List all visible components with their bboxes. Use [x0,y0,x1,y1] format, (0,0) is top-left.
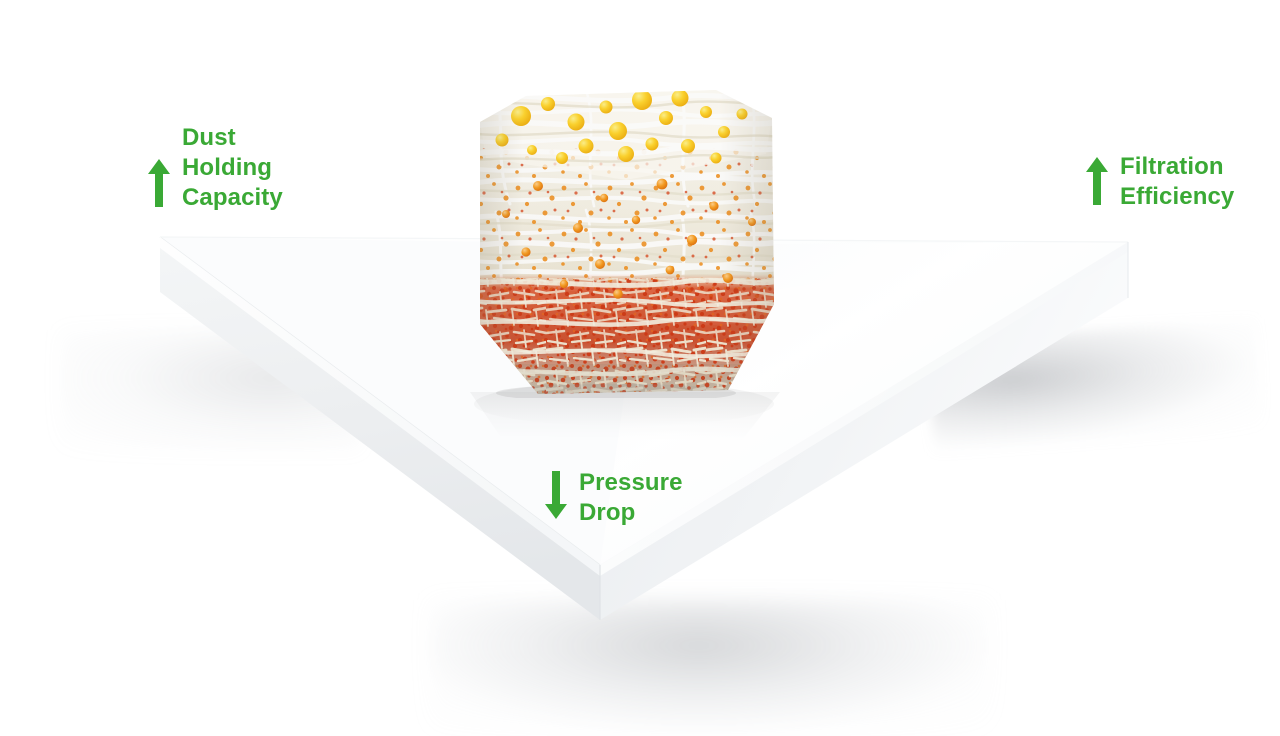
platform-shadow-right [927,319,1264,452]
platform-shadow-bottom [430,600,990,730]
callout-label-filtration-efficiency: Filtration Efficiency [1120,152,1234,212]
callout-pressure-drop: Pressure Drop [545,468,683,528]
platform-shadow-left [60,330,360,450]
callout-label-dust-holding-capacity: Dust Holding Capacity [182,123,283,213]
filter-media-cube [466,88,782,398]
callout-dust-holding-capacity: Dust Holding Capacity [148,123,283,213]
infographic-canvas: Dust Holding Capacity Filtration Efficie… [0,0,1280,736]
callout-filtration-efficiency: Filtration Efficiency [1086,152,1234,212]
callout-label-pressure-drop: Pressure Drop [579,468,683,528]
filter-media-cube-graphic [466,88,782,398]
arrow-up-icon [148,159,170,207]
arrow-down-icon [545,471,567,519]
arrow-up-icon [1086,157,1108,205]
